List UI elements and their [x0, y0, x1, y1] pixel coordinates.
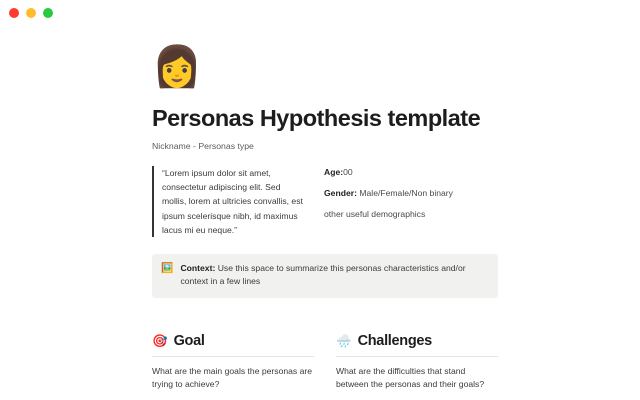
demographics-value-other: other useful demographics [324, 209, 425, 219]
section-challenges-prompt[interactable]: What are the difficulties that stand bet… [336, 365, 498, 392]
demographics-key-age: Age: [324, 167, 343, 177]
quote-column: “Lorem ipsum dolor sit amet, consectetur… [152, 166, 304, 237]
window-titlebar [0, 0, 640, 26]
demographics-list: Age:00 Gender: Male/Female/Non binary ot… [324, 166, 496, 221]
document-body: 👩 Personas Hypothesis template Nickname … [152, 44, 498, 400]
section-goal-divider [152, 356, 314, 357]
maximize-window-button[interactable] [43, 8, 53, 18]
section-challenges-divider [336, 356, 498, 357]
page-subtitle[interactable]: Nickname - Personas type [152, 140, 498, 153]
demographics-row-age[interactable]: Age:00 [324, 166, 496, 179]
demographics-value-age: 00 [343, 167, 353, 177]
framed-picture-emoji: 🖼️ [161, 262, 173, 275]
demographics-key-gender: Gender: [324, 188, 357, 198]
section-goal-title: Goal [174, 332, 205, 350]
section-challenges: 🌧️ Challenges What are the difficulties … [336, 332, 498, 400]
woman-red-hair-emoji[interactable]: 👩 [152, 44, 498, 90]
section-challenges-title: Challenges [358, 332, 432, 350]
direct-hit-emoji: 🎯 [152, 332, 168, 349]
persona-quote[interactable]: “Lorem ipsum dolor sit amet, consectetur… [152, 166, 304, 237]
context-callout[interactable]: 🖼️ Context: Use this space to summarize … [152, 254, 498, 298]
document-canvas: 👩 Personas Hypothesis template Nickname … [0, 26, 640, 400]
demographics-row-other[interactable]: other useful demographics [324, 208, 496, 221]
minimize-window-button[interactable] [26, 8, 36, 18]
context-callout-text: Context: Use this space to summarize thi… [180, 262, 487, 289]
section-goal-prompt[interactable]: What are the main goals the personas are… [152, 365, 314, 392]
persona-summary-columns: “Lorem ipsum dolor sit amet, consectetur… [152, 166, 498, 237]
context-callout-body: Use this space to summarize this persona… [180, 263, 465, 286]
cloud-with-rain-emoji: 🌧️ [336, 332, 352, 349]
demographics-row-gender[interactable]: Gender: Male/Female/Non binary [324, 187, 496, 200]
goals-challenges-columns: 🎯 Goal What are the main goals the perso… [152, 332, 498, 400]
demographics-value-gender: Male/Female/Non binary [357, 188, 453, 198]
section-goal-heading[interactable]: 🎯 Goal [152, 332, 314, 350]
close-window-button[interactable] [9, 8, 19, 18]
context-callout-label: Context: [180, 263, 215, 273]
demographics-column: Age:00 Gender: Male/Female/Non binary ot… [324, 166, 496, 221]
page-title[interactable]: Personas Hypothesis template [152, 104, 498, 132]
section-challenges-heading[interactable]: 🌧️ Challenges [336, 332, 498, 350]
section-goal: 🎯 Goal What are the main goals the perso… [152, 332, 314, 400]
